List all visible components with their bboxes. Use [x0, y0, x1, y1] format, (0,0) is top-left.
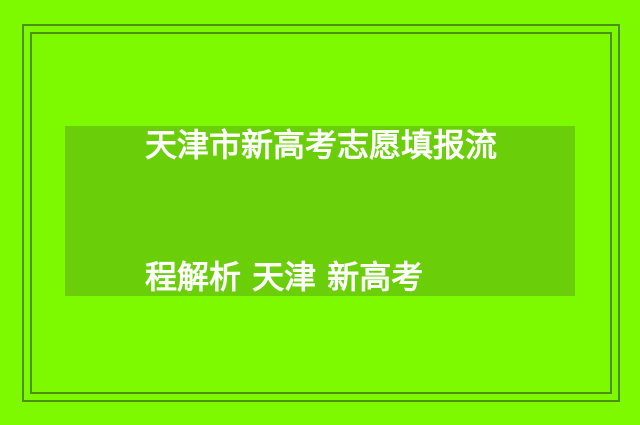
thumbnail-canvas: 天津市新高考志愿填报流 程解析 天津 新高考 — [0, 0, 640, 425]
page-title: 天津市新高考志愿填报流 程解析 天津 新高考 — [145, 35, 505, 387]
headline-line-2: 程解析 天津 新高考 — [145, 255, 505, 299]
headline-panel: 天津市新高考志愿填报流 程解析 天津 新高考 — [65, 126, 575, 296]
headline-line-1: 天津市新高考志愿填报流 — [145, 123, 505, 167]
